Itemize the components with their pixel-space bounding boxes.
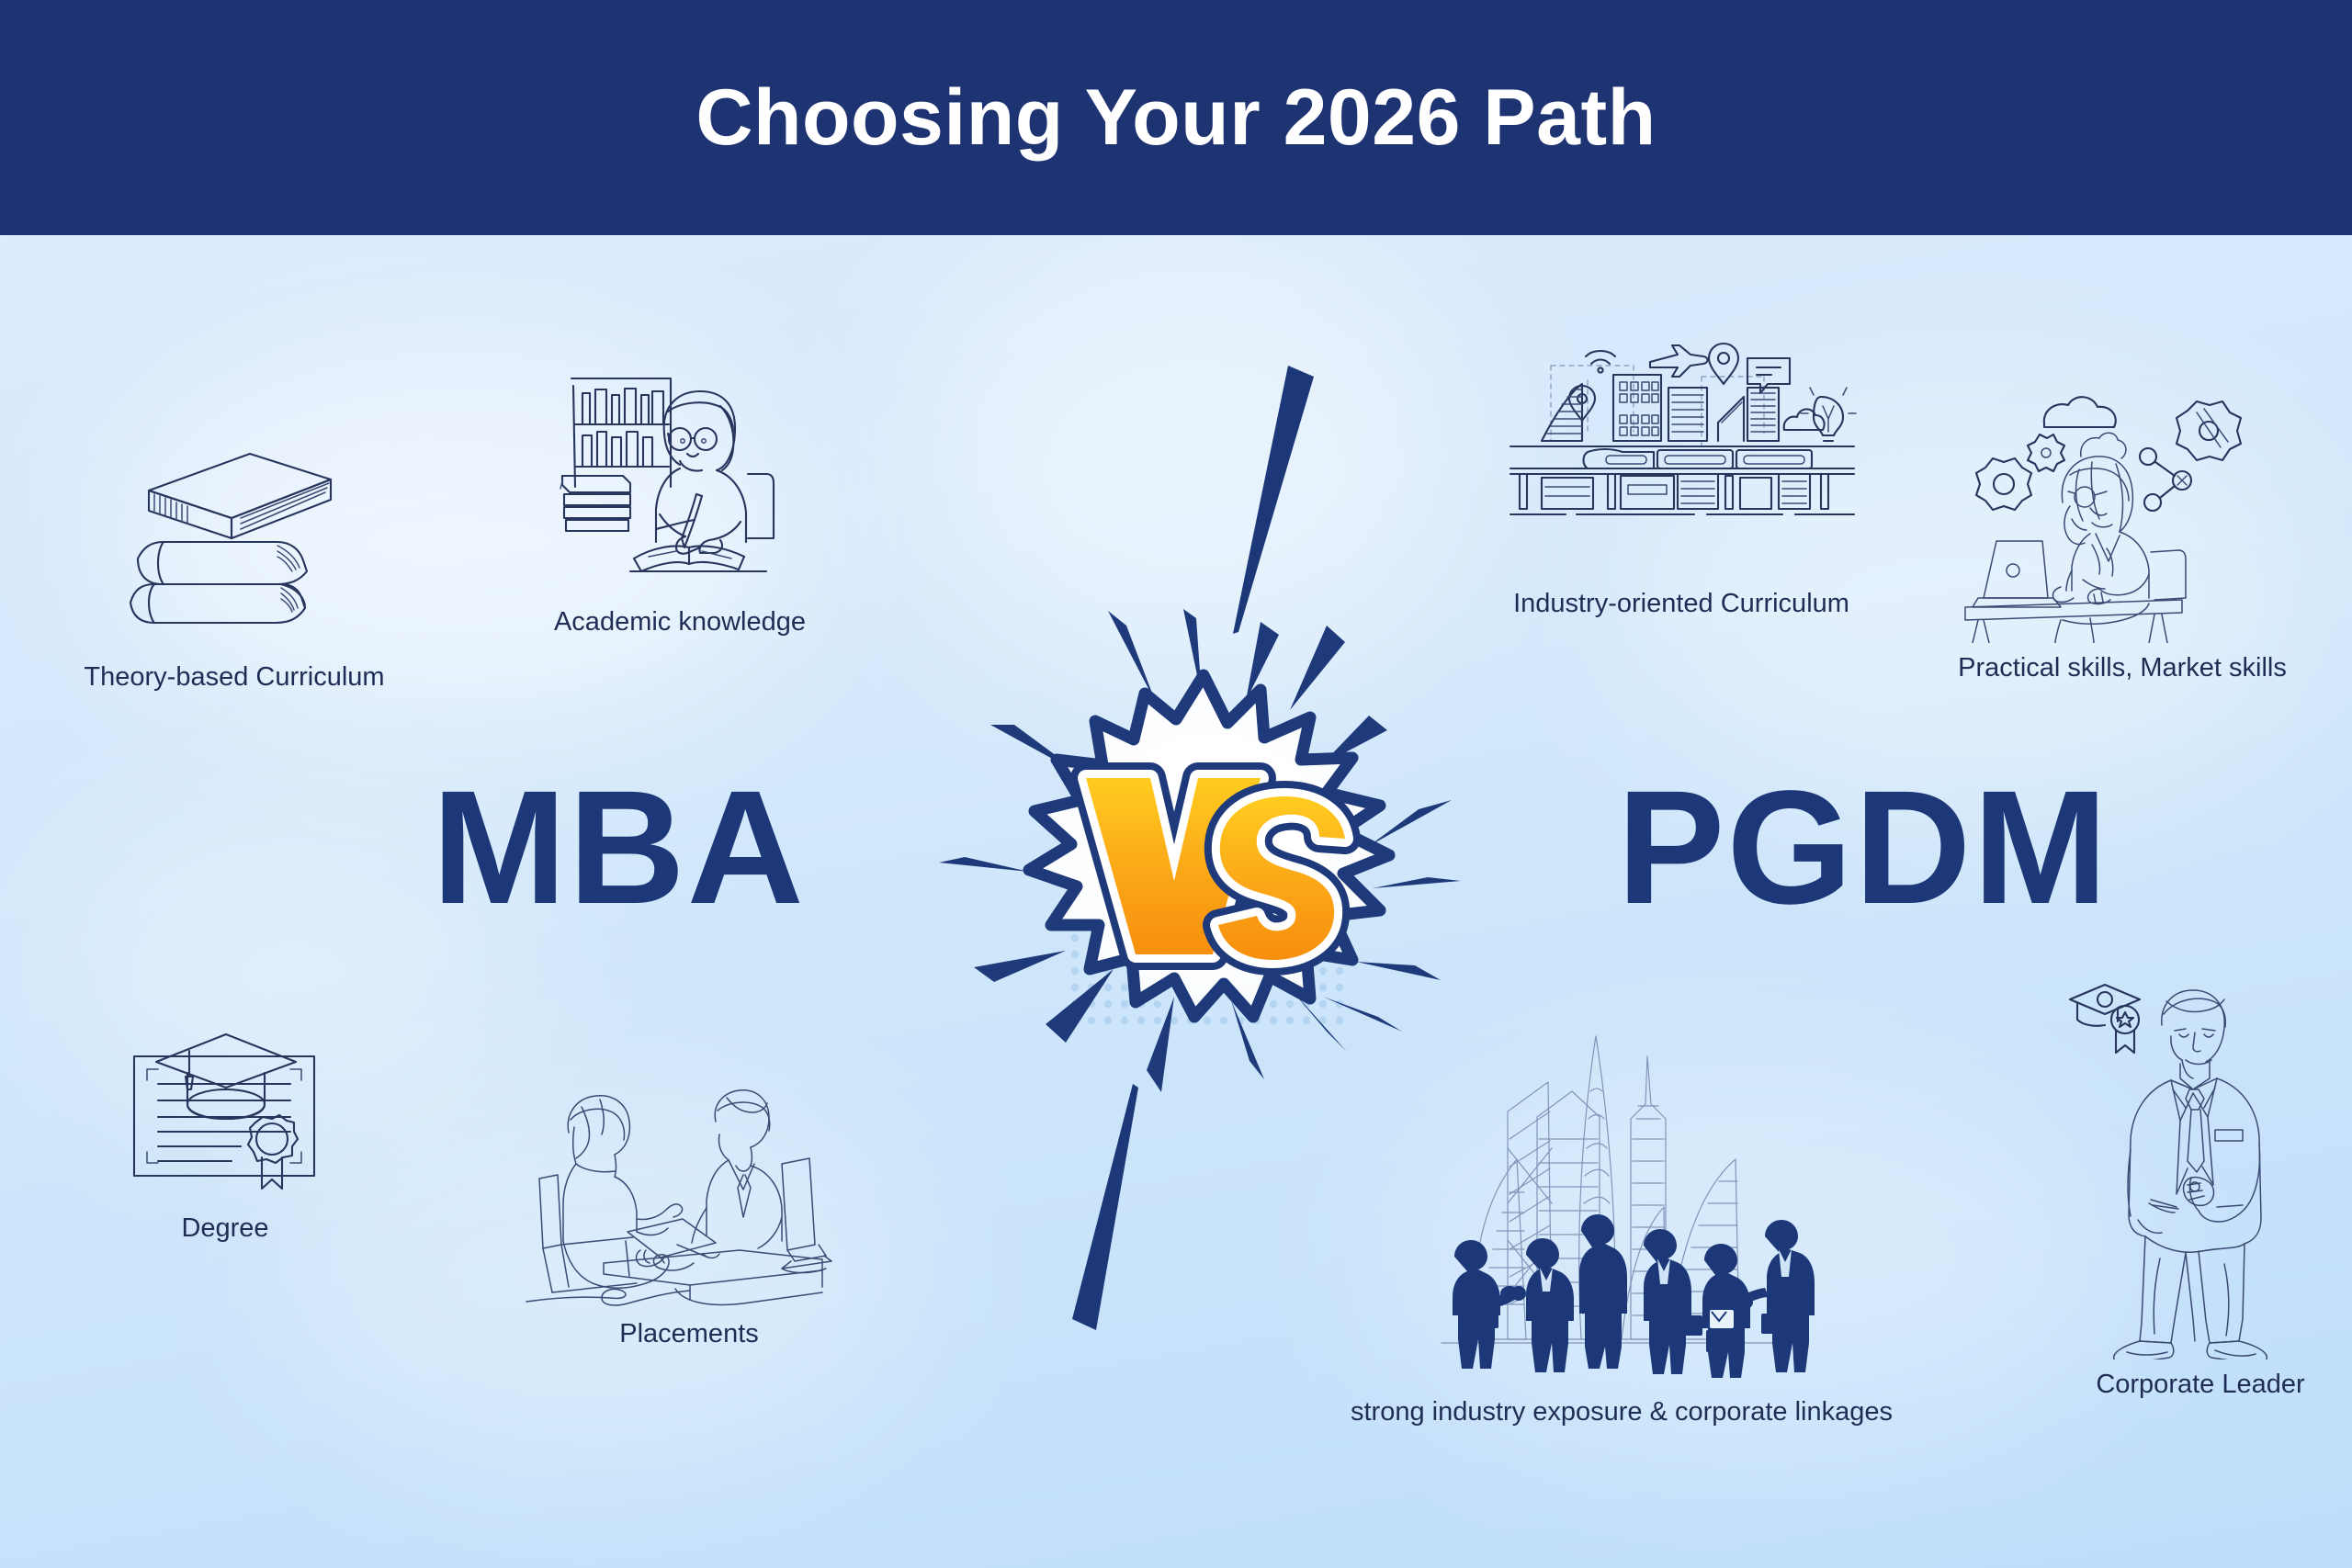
item-placements: Placements — [514, 1079, 864, 1350]
item-caption: Industry-oriented Curriculum — [1513, 588, 1849, 620]
item-caption: Academic knowledge — [554, 606, 806, 638]
item-caption: Placements — [619, 1318, 759, 1350]
side-title-pgdm: PGDM — [1617, 767, 2109, 929]
blade-divider-top — [1222, 366, 1332, 641]
item-theory-curriculum: Theory-based Curriculum — [83, 423, 386, 694]
item-corporate-leader: Corporate Leader — [2049, 955, 2352, 1401]
infographic-canvas: Choosing Your 2026 Path — [0, 0, 2352, 1568]
item-academic-knowledge: Academic knowledge — [524, 358, 836, 638]
book-stack-icon — [101, 423, 367, 652]
versus-burst — [937, 602, 1470, 1134]
item-caption: Degree — [181, 1213, 268, 1245]
header-bar: Choosing Your 2026 Path — [0, 0, 2352, 235]
item-caption: Practical skills, Market skills — [1958, 652, 2287, 684]
smart-city-icon — [1498, 331, 1865, 579]
item-industry-curriculum: Industry-oriented Curriculum — [1498, 331, 1865, 620]
item-degree: Degree — [87, 1020, 363, 1245]
item-practical-skills: Practical skills, Market skills — [1939, 390, 2306, 684]
item-caption: strong industry exposure & corporate lin… — [1351, 1396, 1893, 1428]
job-interview-icon — [519, 1079, 859, 1309]
item-caption: Corporate Leader — [2096, 1369, 2304, 1401]
businessman-icon — [2063, 955, 2338, 1359]
side-title-mba: MBA — [432, 767, 806, 929]
woman-laptop-gears-icon — [1952, 390, 2292, 643]
page-title: Choosing Your 2026 Path — [695, 78, 1656, 157]
item-caption: Theory-based Curriculum — [84, 661, 384, 694]
student-studying-icon — [542, 358, 818, 597]
diploma-certificate-icon — [119, 1020, 331, 1203]
